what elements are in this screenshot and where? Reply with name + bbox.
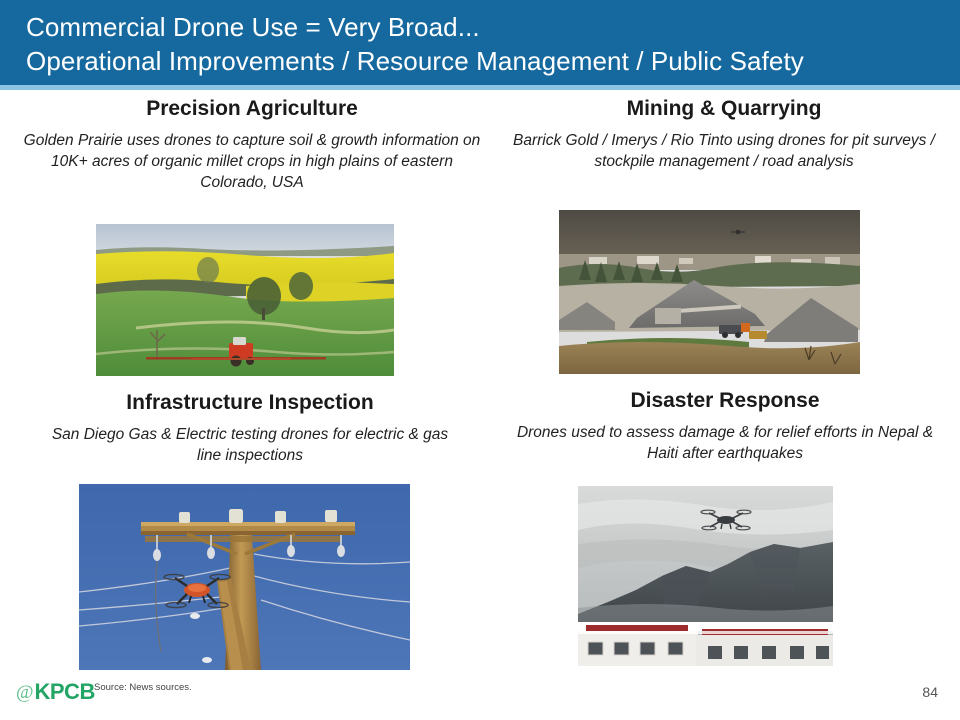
section-title-mining-quarrying: Mining & Quarrying: [496, 96, 952, 122]
kpcb-wordmark: KPCB: [35, 681, 95, 703]
section-body-infrastructure-inspection: San Diego Gas & Electric testing drones …: [40, 424, 460, 466]
precision-agriculture-photo: [96, 224, 394, 376]
section-disaster-response: Disaster Response Drones used to assess …: [500, 388, 950, 464]
slide: Commercial Drone Use = Very Broad... Ope…: [0, 0, 960, 720]
at-sign-icon: @: [16, 683, 34, 702]
slide-header: Commercial Drone Use = Very Broad... Ope…: [0, 0, 960, 85]
section-title-precision-agriculture: Precision Agriculture: [16, 96, 488, 122]
section-body-disaster-response: Drones used to assess damage & for relie…: [500, 422, 950, 464]
kpcb-logo: @ KPCB: [16, 679, 95, 705]
section-precision-agriculture: Precision Agriculture Golden Prairie use…: [16, 96, 488, 193]
section-title-disaster-response: Disaster Response: [500, 388, 950, 414]
mining-quarrying-photo: [559, 210, 860, 374]
section-body-mining-quarrying: Barrick Gold / Imerys / Rio Tinto using …: [496, 130, 952, 172]
section-infrastructure-inspection: Infrastructure Inspection San Diego Gas …: [40, 390, 460, 466]
infrastructure-inspection-photo: [79, 484, 410, 670]
section-mining-quarrying: Mining & Quarrying Barrick Gold / Imerys…: [496, 96, 952, 172]
slide-title-line-1: Commercial Drone Use = Very Broad...: [26, 10, 960, 44]
source-note: Source: News sources.: [94, 682, 192, 693]
header-accent-rule: [0, 85, 960, 90]
section-body-precision-agriculture: Golden Prairie uses drones to capture so…: [16, 130, 488, 193]
slide-title-line-2: Operational Improvements / Resource Mana…: [26, 44, 960, 78]
section-title-infrastructure-inspection: Infrastructure Inspection: [40, 390, 460, 416]
page-number: 84: [922, 684, 938, 700]
disaster-response-photo: [578, 486, 833, 666]
